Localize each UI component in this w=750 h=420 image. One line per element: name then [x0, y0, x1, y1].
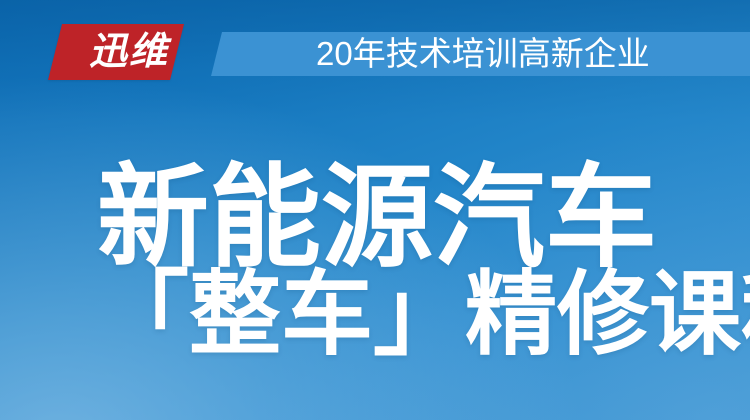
- promo-poster: 迅维 20年技术培训高新企业 新能源汽车 「整车」精修课程: [0, 0, 750, 420]
- poster-subheadline: 「整车」精修课程: [97, 268, 750, 362]
- tagline-banner-text: 20年技术培训高新企业: [316, 31, 650, 77]
- headline-block: 新能源汽车 「整车」精修课程: [97, 162, 750, 362]
- brand-logo-text: 迅维: [66, 24, 192, 80]
- poster-header: 迅维 20年技术培训高新企业: [0, 0, 750, 100]
- poster-headline: 新能源汽车: [97, 162, 750, 274]
